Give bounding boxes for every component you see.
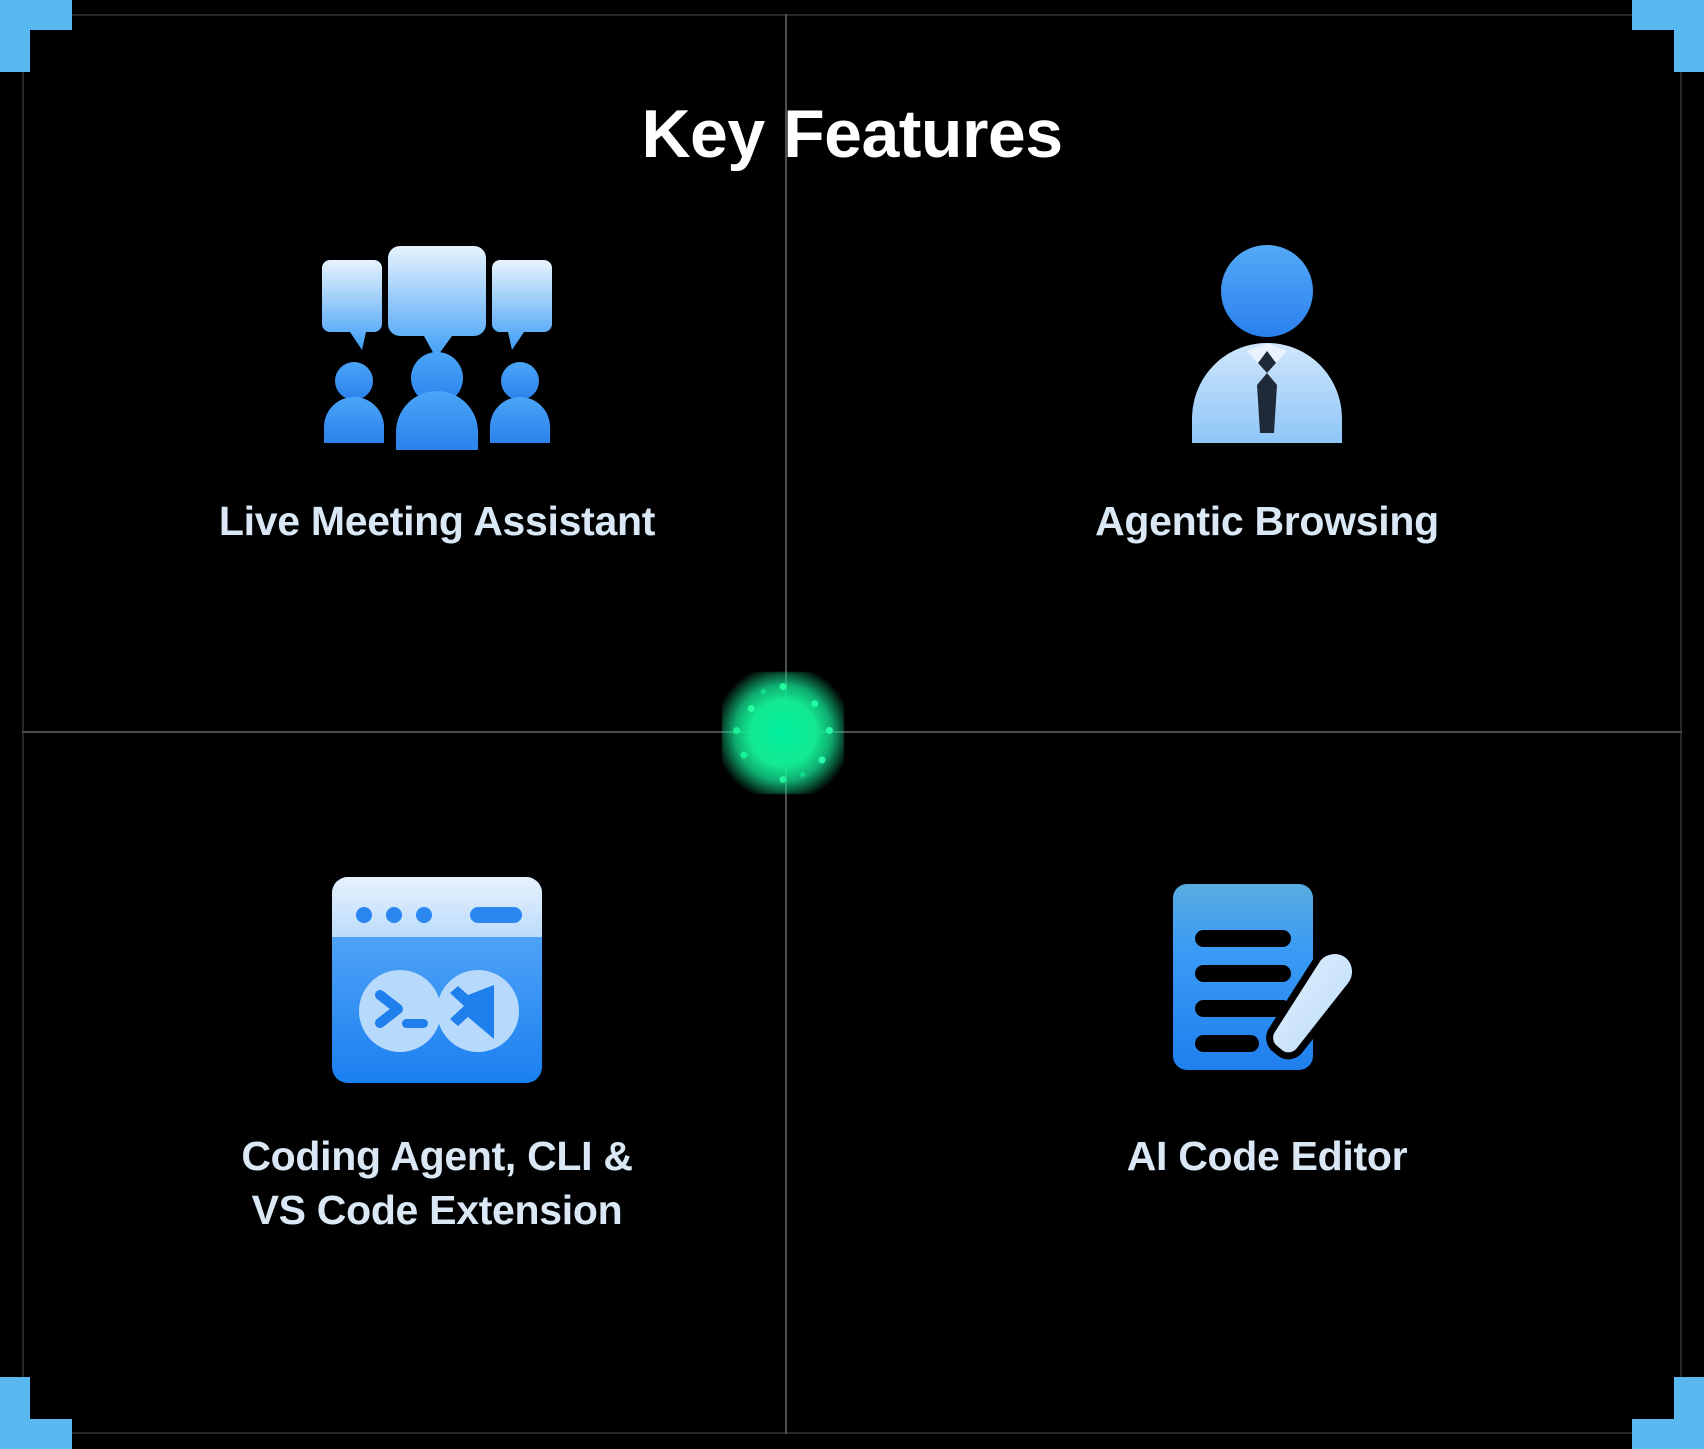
feature-label: AI Code Editor xyxy=(1127,1129,1408,1183)
corner-bracket-top-left xyxy=(0,0,72,72)
document-pencil-edit-icon xyxy=(1142,865,1392,1095)
feature-coding-agent-cli-vscode[interactable]: Coding Agent, CLI & VS Code Extension xyxy=(22,815,852,1400)
terminal-vscode-window-icon xyxy=(312,865,562,1095)
feature-label: Live Meeting Assistant xyxy=(219,494,655,548)
feature-live-meeting-assistant[interactable]: Live Meeting Assistant xyxy=(22,230,852,815)
corner-bracket-top-right xyxy=(1632,0,1704,72)
feature-grid: Live Meeting Assistant xyxy=(22,230,1682,1400)
feature-agentic-browsing[interactable]: Agentic Browsing xyxy=(852,230,1682,815)
business-person-avatar-icon xyxy=(1142,230,1392,460)
feature-label: Coding Agent, CLI & VS Code Extension xyxy=(241,1129,632,1237)
feature-label: Agentic Browsing xyxy=(1095,494,1439,548)
meeting-people-speech-bubbles-icon xyxy=(312,230,562,460)
feature-ai-code-editor[interactable]: AI Code Editor xyxy=(852,815,1682,1400)
page-title: Key Features xyxy=(0,95,1704,173)
